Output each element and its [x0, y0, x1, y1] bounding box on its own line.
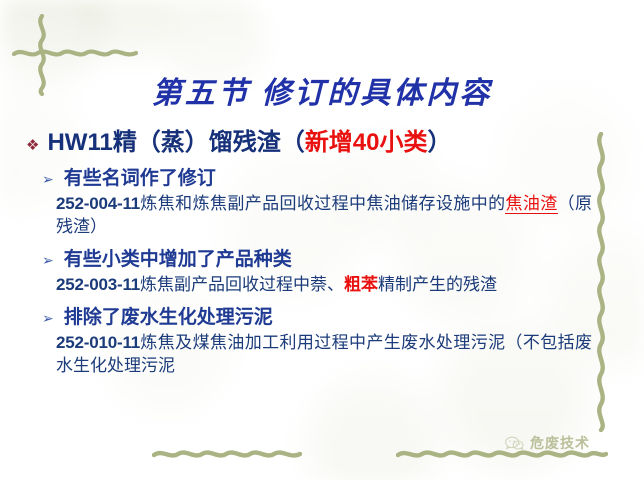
presentation-slide: 第五节 修订的具体内容 ❖ HW11精（蒸）馏残渣（新增40小类） ➢ 有些名词…	[0, 0, 644, 480]
detail-pre-0: 炼焦和炼焦副产品回收过程中焦油储存设施中的	[140, 194, 505, 213]
section-label-text-2: 排除了废水生化处理污泥	[64, 302, 273, 329]
wechat-icon	[505, 436, 524, 451]
decorative-wave-horizontal-bottom-right	[396, 447, 608, 459]
detail-highlight-0: 焦油渣	[505, 194, 557, 214]
watermark-label: 危废技术	[530, 433, 590, 453]
section-label-0: ➢ 有些名词作了修订	[0, 163, 644, 190]
arrow-bullet-icon: ➢	[42, 311, 54, 327]
detail-highlight-1: 粗苯	[344, 275, 378, 294]
heading-hw11: ❖ HW11精（蒸）馏残渣（新增40小类）	[0, 122, 644, 157]
arrow-bullet-icon: ➢	[42, 253, 54, 269]
slide-body: ❖ HW11精（蒸）馏残渣（新增40小类） ➢ 有些名词作了修订 252-004…	[0, 122, 644, 382]
waste-code-0: 252-004-11	[56, 194, 140, 213]
footer-watermark: 危废技术	[505, 433, 590, 453]
waste-code-1: 252-003-11	[56, 275, 140, 294]
heading-text-part2: ）	[428, 129, 452, 156]
waste-code-2: 252-010-11	[56, 333, 140, 352]
heading-text: HW11精（蒸）馏残渣（新增40小类）	[47, 122, 451, 157]
section-detail-1: 252-003-11炼焦副产品回收过程中萘、粗苯精制产生的残渣	[0, 273, 644, 296]
decorative-wave-horizontal-top	[12, 46, 138, 58]
arrow-bullet-icon: ➢	[42, 172, 54, 188]
detail-pre-1: 炼焦副产品回收过程中萘、	[140, 275, 344, 294]
detail-post-1: 精制产生的残渣	[378, 275, 497, 294]
heading-code: HW11	[47, 129, 112, 156]
section-label-2: ➢ 排除了废水生化处理污泥	[0, 302, 644, 329]
section-detail-2: 252-010-11炼焦及煤焦油加工利用过程中产生废水处理污泥（不包括废水生化处…	[0, 331, 644, 377]
section-label-text-1: 有些小类中增加了产品种类	[64, 244, 292, 271]
heading-text-highlight: 新增40小类	[305, 129, 428, 156]
section-detail-0: 252-004-11炼焦和炼焦副产品回收过程中焦油储存设施中的焦油渣（原残渣）	[0, 192, 644, 238]
heading-text-part1: 精（蒸）馏残渣（	[113, 129, 305, 156]
section-label-text-0: 有些名词作了修订	[64, 163, 216, 190]
section-label-1: ➢ 有些小类中增加了产品种类	[0, 244, 644, 271]
slide-title: 第五节 修订的具体内容	[0, 68, 644, 112]
diamond-bullet-icon: ❖	[26, 138, 39, 153]
decorative-wave-horizontal-bottom-left	[152, 447, 302, 459]
